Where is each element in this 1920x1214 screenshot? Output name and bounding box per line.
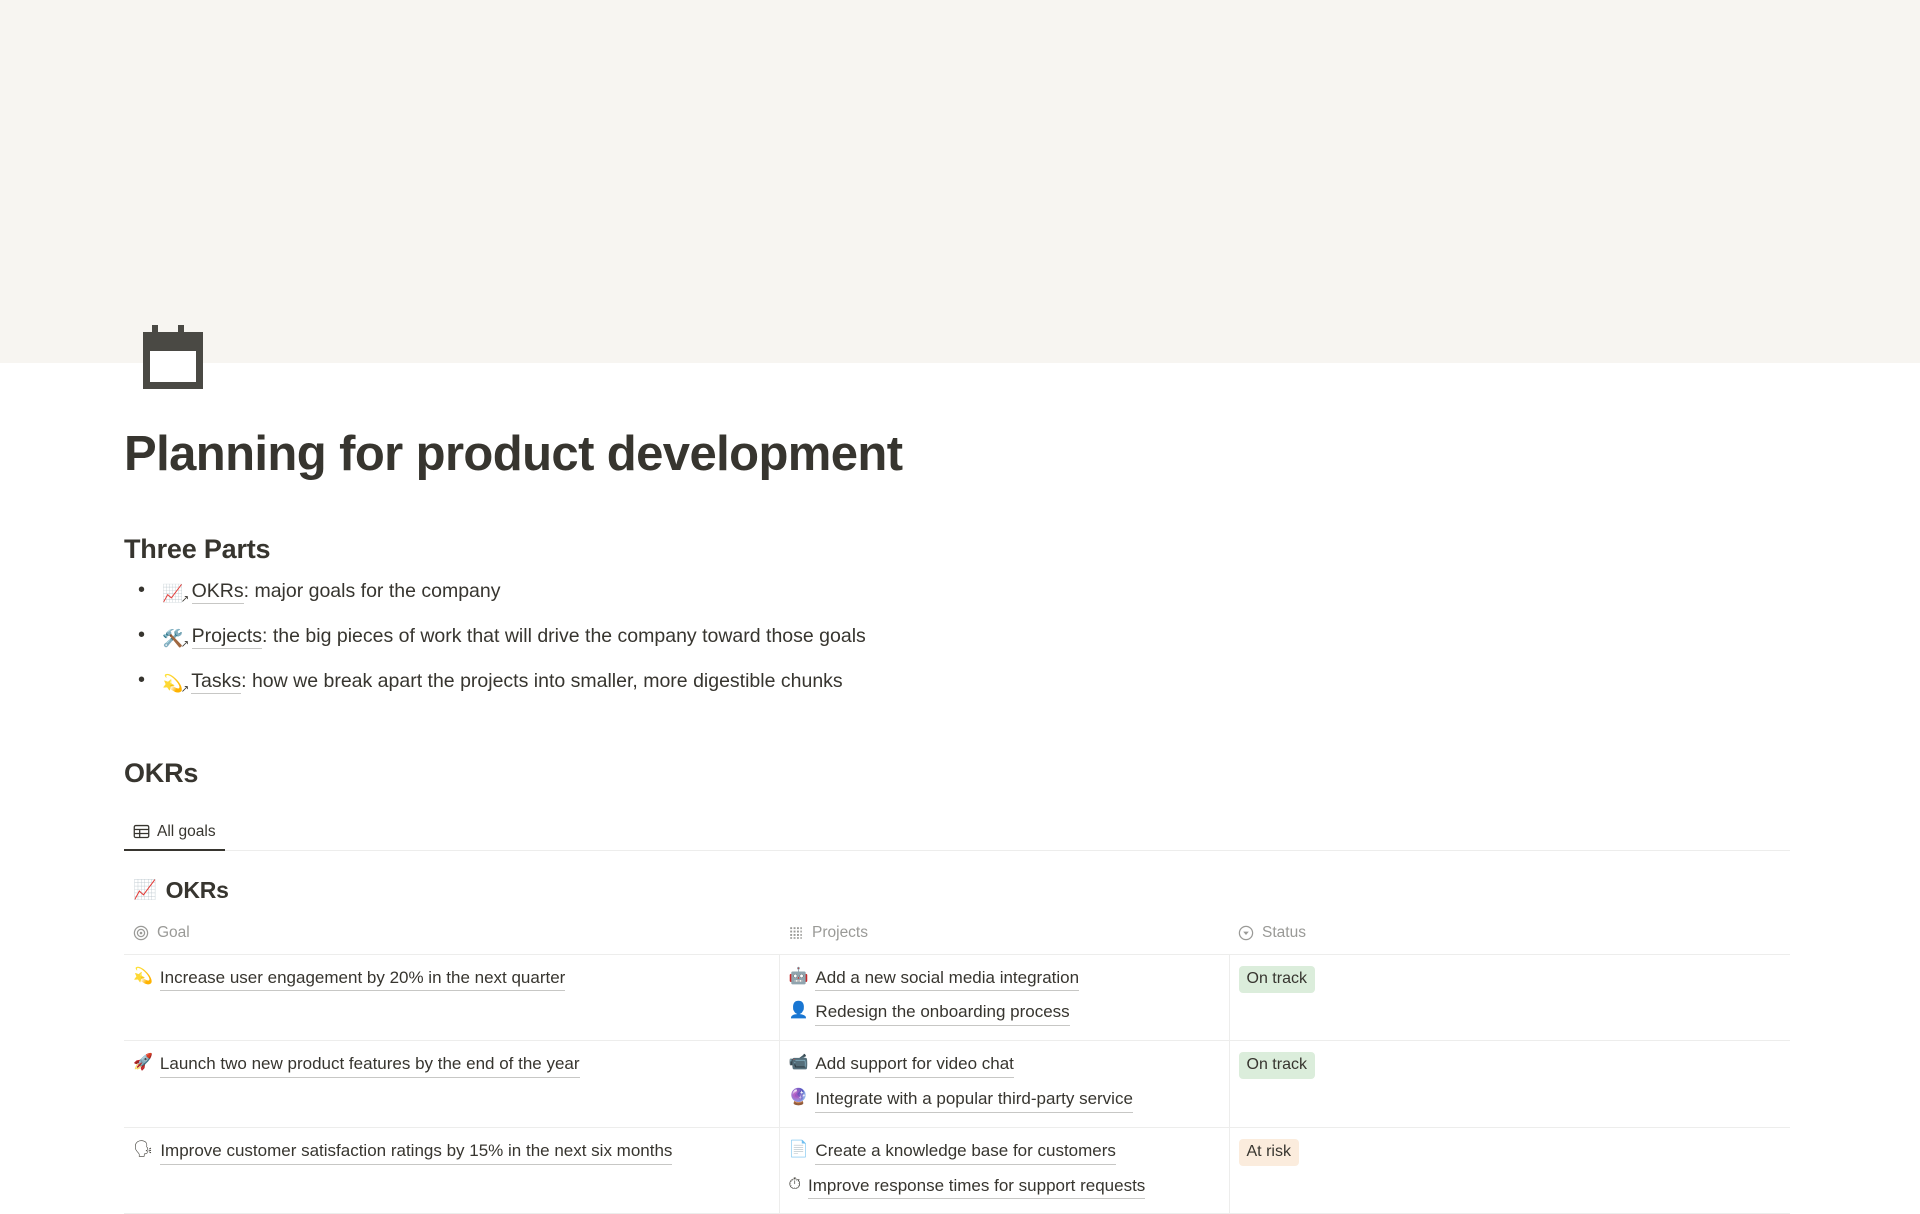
list-item: 💫↗ Tasks: how we break apart the project… <box>124 667 1824 695</box>
project-emoji: ⏱ <box>789 1174 801 1196</box>
column-header-goal[interactable]: Goal <box>124 918 779 955</box>
column-header-label: Status <box>1262 924 1306 942</box>
column-header-label: Projects <box>812 924 868 942</box>
goal-link[interactable]: Launch two new product features by the e… <box>160 1052 580 1078</box>
list-item-text: : how we break apart the projects into s… <box>241 670 843 692</box>
column-header-projects[interactable]: Projects <box>779 918 1229 955</box>
goal-emoji: 💫 <box>133 966 153 988</box>
column-header-label: Goal <box>157 924 190 942</box>
cell-goal[interactable]: 🚀 Launch two new product features by the… <box>124 1041 779 1128</box>
project-link[interactable]: Create a knowledge base for customers <box>815 1139 1116 1165</box>
status-badge: On track <box>1239 966 1315 993</box>
cell-projects[interactable]: 📄 Create a knowledge base for customers … <box>779 1127 1229 1214</box>
goal-link[interactable]: Increase user engagement by 20% in the n… <box>160 966 565 992</box>
page-cover <box>0 0 1920 363</box>
select-circle-icon <box>1238 925 1254 941</box>
cell-status[interactable]: On track <box>1229 1041 1790 1128</box>
project-emoji: 👤 <box>789 1000 809 1022</box>
status-badge: On track <box>1239 1052 1315 1079</box>
three-parts-heading: Three Parts <box>124 534 1824 565</box>
list-item-text: : the big pieces of work that will drive… <box>262 625 866 647</box>
database-title-row: 📈 OKRs <box>133 877 1824 904</box>
cell-goal[interactable]: 🗣 Improve customer satisfaction ratings … <box>124 1127 779 1214</box>
link-arrow-icon: ↗ <box>181 595 189 605</box>
page-content: Planning for product development Three P… <box>124 400 1824 1214</box>
project-emoji: 📹 <box>789 1052 809 1074</box>
list-item: 📈↗ OKRs: major goals for the company <box>124 577 1824 605</box>
project-emoji: 📄 <box>789 1139 809 1161</box>
column-header-status[interactable]: Status <box>1229 918 1790 955</box>
list-item-text: : major goals for the company <box>244 580 501 602</box>
cell-status[interactable]: At risk <box>1229 1127 1790 1214</box>
project-link[interactable]: Improve response times for support reque… <box>808 1174 1145 1200</box>
chart-increasing-icon: 📈 <box>133 881 157 900</box>
list-item: 🛠️↗ Projects: the big pieces of work tha… <box>124 622 1824 650</box>
okrs-heading: OKRs <box>124 758 1824 789</box>
table-header-row: Goal Projects <box>124 918 1790 955</box>
status-badge: At risk <box>1239 1139 1299 1166</box>
chart-link-icon: 📈↗ <box>162 585 183 602</box>
relation-grid-icon <box>788 925 804 941</box>
table-icon <box>133 823 150 840</box>
tasks-link[interactable]: Tasks <box>191 670 241 694</box>
projects-link[interactable]: Projects <box>192 625 262 649</box>
okrs-table: Goal Projects <box>124 918 1790 1214</box>
target-icon <box>133 925 149 941</box>
table-row: 🚀 Launch two new product features by the… <box>124 1041 1790 1128</box>
project-link[interactable]: Add a new social media integration <box>815 966 1079 992</box>
database-view-tabs: All goals <box>124 809 1790 851</box>
cell-projects[interactable]: 📹 Add support for video chat 🔮 Integrate… <box>779 1041 1229 1128</box>
database-title: OKRs <box>166 877 229 904</box>
goal-link[interactable]: Improve customer satisfaction ratings by… <box>160 1139 672 1165</box>
cell-projects[interactable]: 🤖 Add a new social media integration 👤 R… <box>779 954 1229 1041</box>
calendar-icon[interactable] <box>134 318 212 396</box>
cell-goal[interactable]: 💫 Increase user engagement by 20% in the… <box>124 954 779 1041</box>
project-emoji: 🔮 <box>789 1087 809 1109</box>
goal-emoji: 🗣 <box>133 1139 153 1161</box>
cell-status[interactable]: On track <box>1229 954 1790 1041</box>
table-row: 💫 Increase user engagement by 20% in the… <box>124 954 1790 1041</box>
project-link[interactable]: Integrate with a popular third-party ser… <box>815 1087 1133 1113</box>
hammer-wrench-link-icon: 🛠️↗ <box>162 630 183 647</box>
goal-emoji: 🚀 <box>133 1052 153 1074</box>
link-arrow-icon: ↗ <box>181 685 189 695</box>
link-arrow-icon: ↗ <box>181 640 189 650</box>
project-emoji: 🤖 <box>789 966 809 988</box>
project-link[interactable]: Redesign the onboarding process <box>815 1000 1069 1026</box>
okrs-link[interactable]: OKRs <box>192 580 244 604</box>
tab-label: All goals <box>157 823 216 841</box>
page-title: Planning for product development <box>124 428 1824 482</box>
tab-all-goals[interactable]: All goals <box>124 823 225 850</box>
project-link[interactable]: Add support for video chat <box>815 1052 1013 1078</box>
table-row: 🗣 Improve customer satisfaction ratings … <box>124 1127 1790 1214</box>
sparkle-click-link-icon: 💫↗ <box>162 675 183 692</box>
three-parts-list: 📈↗ OKRs: major goals for the company 🛠️↗… <box>124 577 1824 696</box>
